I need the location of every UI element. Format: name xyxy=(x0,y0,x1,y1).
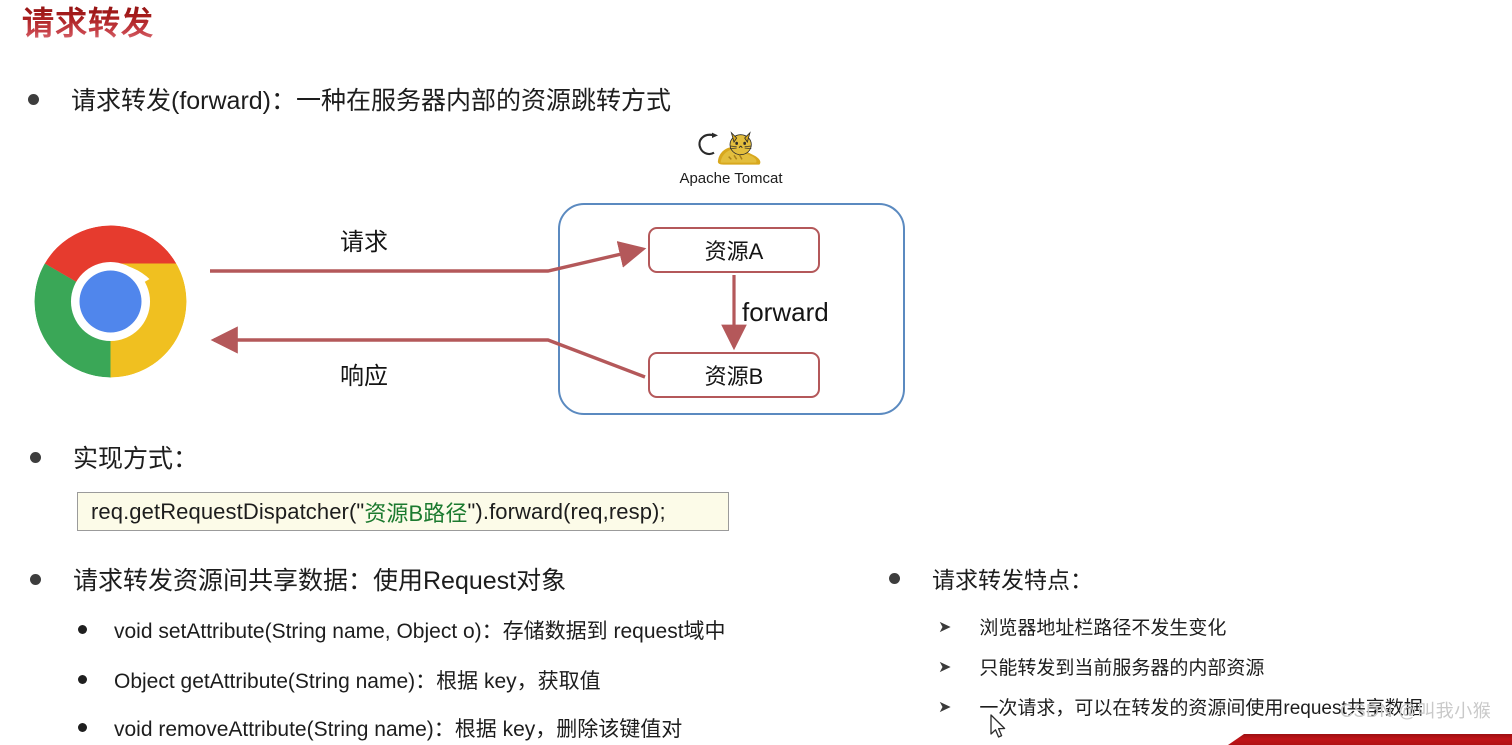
left-section-item-label: void removeAttribute(String name)：根据 key… xyxy=(114,717,682,743)
request-label: 请求 xyxy=(340,222,388,257)
code-snippet-box: req.getRequestDispatcher("资源B路径").forwar… xyxy=(77,492,729,531)
bullet-dot-icon xyxy=(889,573,900,584)
arrow-bullet-icon: ➤ xyxy=(938,700,951,716)
mouse-cursor-icon xyxy=(990,714,1008,740)
right-section-item-label: 浏览器地址栏路径不发生变化 xyxy=(979,617,1226,641)
forward-diagram: Apache Tomcat 资源A 资源B 请求 响应 forward xyxy=(0,0,1000,440)
left-section-heading-row: 请求转发资源间共享数据：使用Request对象 xyxy=(30,566,566,596)
resource-a-label: 资源A xyxy=(705,234,764,266)
chrome-logo-icon xyxy=(33,224,188,379)
intro-bullet-row: 请求转发(forward)：一种在服务器内部的资源跳转方式 xyxy=(28,86,671,116)
arrow-bullet-icon: ➤ xyxy=(938,660,951,676)
bullet-dot-icon xyxy=(28,94,39,105)
diagram-arrows xyxy=(0,0,1000,440)
intro-bullet-label: 请求转发(forward)：一种在服务器内部的资源跳转方式 xyxy=(71,86,671,116)
left-section-item-2: void removeAttribute(String name)：根据 key… xyxy=(78,717,682,743)
resource-a-box: 资源A xyxy=(648,227,820,273)
arrow-bullet-icon: ➤ xyxy=(938,620,951,636)
code-string-literal: 资源B路径 xyxy=(364,496,467,528)
right-section-heading-row: 请求转发特点： xyxy=(889,566,1093,594)
code-suffix: ").forward(req,resp); xyxy=(468,499,666,525)
left-section-heading-label: 请求转发资源间共享数据：使用Request对象 xyxy=(73,566,566,596)
impl-heading-row: 实现方式： xyxy=(30,444,198,474)
left-section-item-1: Object getAttribute(String name)：根据 key，… xyxy=(78,669,601,695)
left-section-item-0: void setAttribute(String name, Object o)… xyxy=(78,619,726,645)
bullet-dot-icon xyxy=(30,574,41,585)
bottom-red-banner xyxy=(1228,734,1512,745)
tomcat-logo-icon xyxy=(690,126,770,170)
response-label: 响应 xyxy=(340,356,388,391)
resource-b-label: 资源B xyxy=(705,359,764,391)
resource-b-box: 资源B xyxy=(648,352,820,398)
right-section-item-1: ➤ 只能转发到当前服务器的内部资源 xyxy=(938,657,1264,681)
page-title: 请求转发 xyxy=(22,2,154,44)
right-section-heading-label: 请求转发特点： xyxy=(932,566,1093,594)
tomcat-label: Apache Tomcat xyxy=(676,170,786,187)
left-section-item-label: Object getAttribute(String name)：根据 key，… xyxy=(114,669,601,695)
csdn-watermark: CSDN @叫我小猴 xyxy=(1340,697,1491,723)
bullet-dot-icon xyxy=(78,675,87,684)
left-section-item-label: void setAttribute(String name, Object o)… xyxy=(114,619,726,645)
server-container xyxy=(558,203,905,415)
right-section-item-label: 只能转发到当前服务器的内部资源 xyxy=(979,657,1264,681)
bullet-dot-icon xyxy=(78,723,87,732)
impl-heading-label: 实现方式： xyxy=(73,444,198,474)
code-prefix: req.getRequestDispatcher(" xyxy=(91,499,364,525)
forward-label: forward xyxy=(742,297,829,328)
bullet-dot-icon xyxy=(78,625,87,634)
right-section-item-0: ➤ 浏览器地址栏路径不发生变化 xyxy=(938,617,1226,641)
bullet-dot-icon xyxy=(30,452,41,463)
